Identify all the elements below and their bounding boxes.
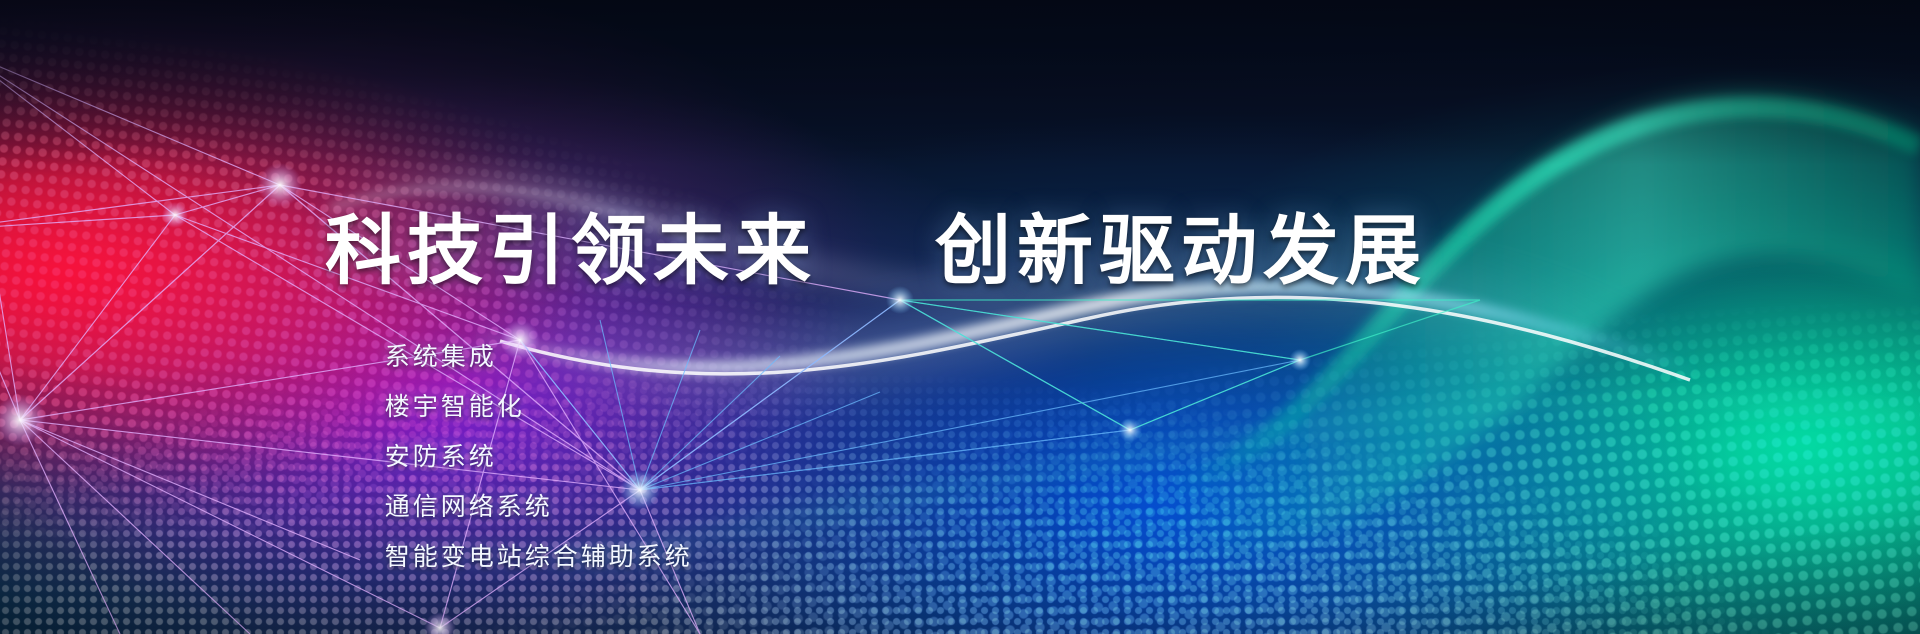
service-item-3: 安防系统 bbox=[385, 443, 497, 471]
page-title: 科技引领未来 创新驱动发展 bbox=[325, 214, 1585, 290]
service-item-1: 系统集成 bbox=[385, 343, 497, 371]
service-list: 系统集成 楼宇智能化 安防系统 通信网络系统 智能变电站综合辅助系统 bbox=[325, 320, 1585, 595]
headline-phrase-2: 创新驱动发展 bbox=[935, 214, 1427, 290]
hero-banner: 科技引领未来 创新驱动发展 系统集成 楼宇智能化 安防系统 通信网络系统 智能变… bbox=[0, 0, 1920, 634]
service-item-5: 智能变电站综合辅助系统 bbox=[385, 543, 693, 571]
service-item-4: 通信网络系统 bbox=[385, 493, 553, 521]
hero-copy: 科技引领未来 创新驱动发展 系统集成 楼宇智能化 安防系统 通信网络系统 智能变… bbox=[325, 214, 1585, 595]
service-item-2: 楼宇智能化 bbox=[385, 393, 525, 421]
headline-phrase-1: 科技引领未来 bbox=[325, 214, 817, 290]
